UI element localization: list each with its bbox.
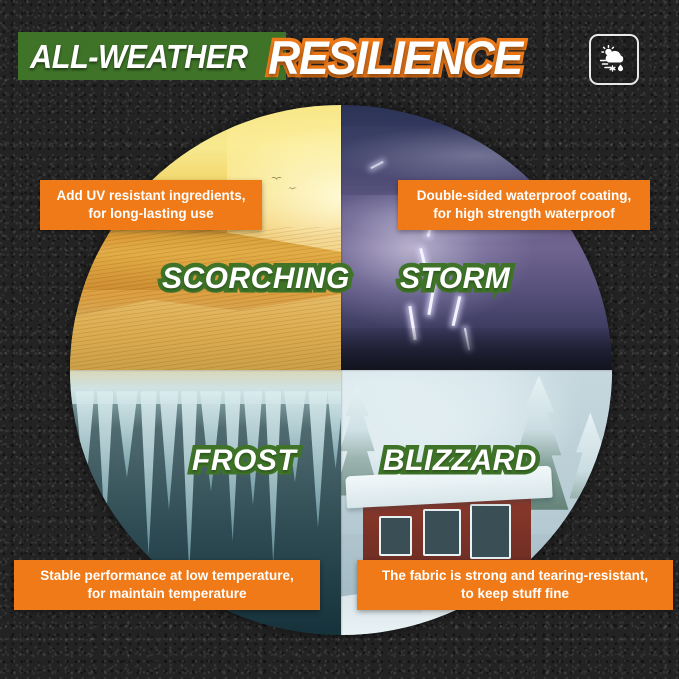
caption-scorching: Add UV resistant ingredients, for long-l… bbox=[40, 180, 262, 230]
caption-line: for long-lasting use bbox=[52, 205, 250, 223]
page-title: ALL-WEATHER RESILIENCE bbox=[18, 29, 535, 85]
title-primary-text: ALL-WEATHER bbox=[30, 38, 248, 76]
quadrant-title-frost: FROST bbox=[192, 444, 296, 478]
quadrant-title-scorching: SCORCHING bbox=[162, 262, 350, 296]
sand-ripples bbox=[70, 227, 341, 370]
caption-line: for maintain temperature bbox=[26, 585, 308, 603]
header: ALL-WEATHER RESILIENCE bbox=[0, 28, 679, 86]
quadrant-title-storm: STORM bbox=[400, 262, 510, 296]
caption-line: The fabric is strong and tearing-resista… bbox=[369, 567, 661, 585]
quadrant-scorching-scene bbox=[70, 105, 341, 370]
caption-line: Stable performance at low temperature, bbox=[26, 567, 308, 585]
quadrant-title-blizzard: BLIZZARD bbox=[383, 444, 537, 478]
caption-frost: Stable performance at low temperature, f… bbox=[14, 560, 320, 610]
bird-icon bbox=[271, 177, 282, 182]
quadrant-seam-horizontal bbox=[70, 370, 612, 372]
cabin-window bbox=[423, 509, 461, 557]
quadrant-storm-scene bbox=[341, 105, 612, 370]
cabin-window bbox=[470, 504, 511, 559]
caption-blizzard: The fabric is strong and tearing-resista… bbox=[357, 560, 673, 610]
caption-storm: Double-sided waterproof coating, for hig… bbox=[398, 180, 650, 230]
caption-line: Add UV resistant ingredients, bbox=[52, 187, 250, 205]
storm-horizon bbox=[341, 328, 612, 370]
cabin-window bbox=[379, 516, 412, 557]
caption-line: for high strength waterproof bbox=[410, 205, 638, 223]
weather-sun-cloud-rain-snow-icon bbox=[597, 43, 631, 77]
poster-root: ALL-WEATHER RESILIENCE bbox=[0, 0, 679, 679]
weather-icon-badge bbox=[589, 34, 639, 85]
caption-line: Double-sided waterproof coating, bbox=[410, 187, 638, 205]
title-accent-text: RESILIENCE bbox=[268, 30, 522, 85]
storm-cloud-band bbox=[341, 126, 612, 184]
caption-line: to keep stuff fine bbox=[369, 585, 661, 603]
bird-icon bbox=[288, 188, 297, 192]
